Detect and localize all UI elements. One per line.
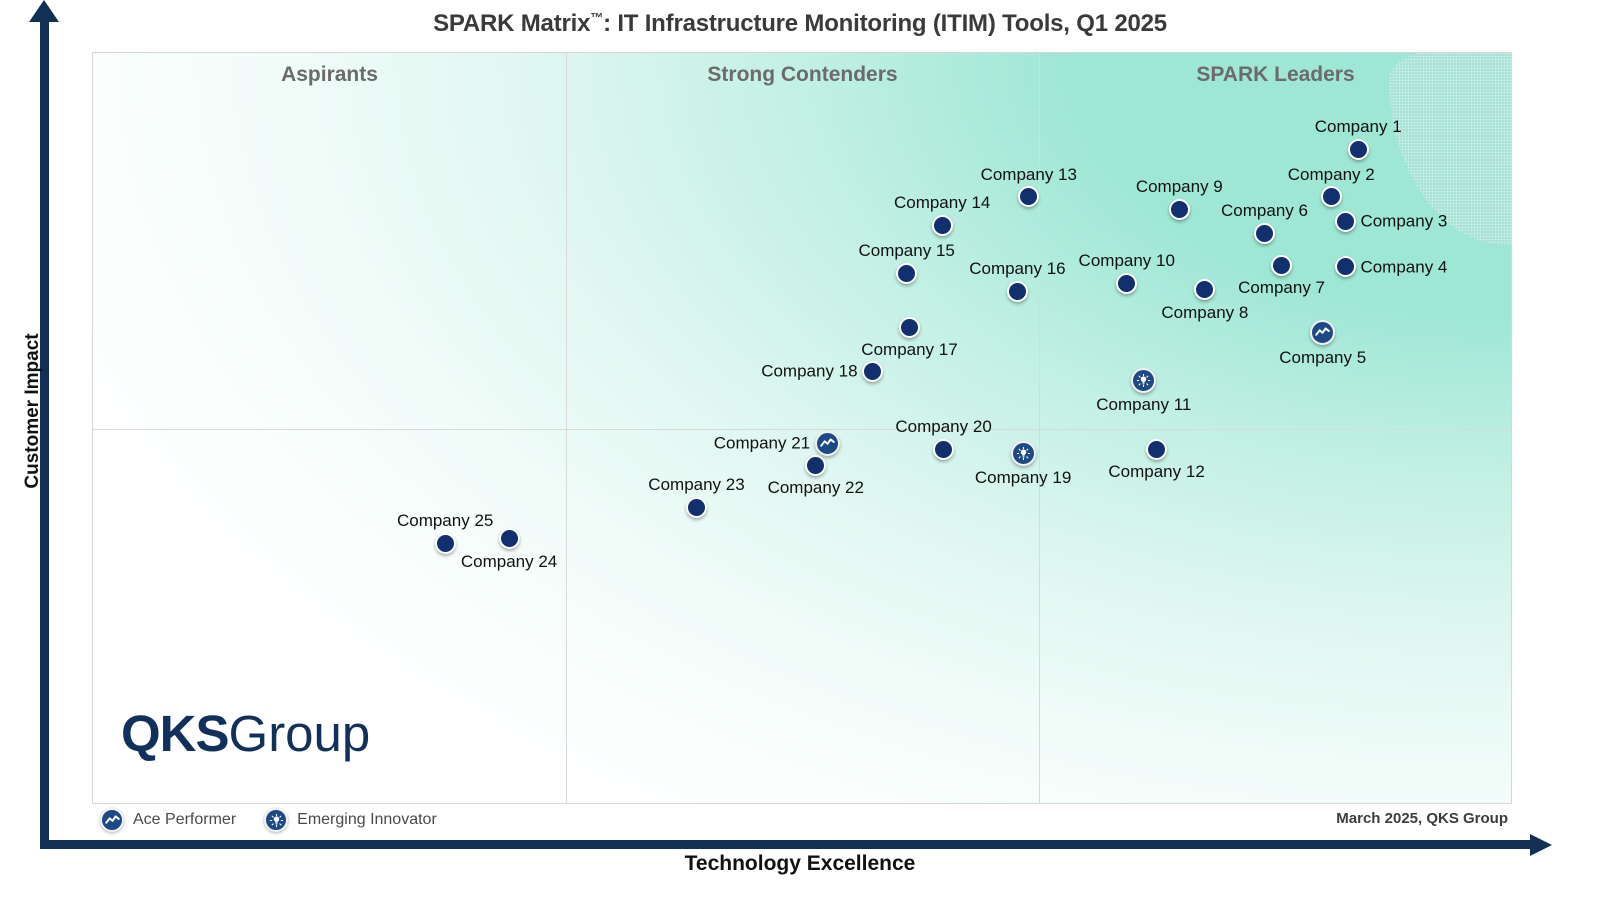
legend-label: Ace Performer bbox=[133, 811, 236, 829]
data-point-marker[interactable] bbox=[1271, 255, 1292, 276]
data-point-marker[interactable] bbox=[815, 431, 840, 456]
data-point-marker[interactable] bbox=[499, 528, 520, 549]
quadrant-label-spark-leaders: SPARK Leaders bbox=[1039, 63, 1512, 87]
data-point-label: Company 16 bbox=[969, 260, 1065, 277]
data-point-marker[interactable] bbox=[805, 455, 826, 476]
ace-performer-icon bbox=[100, 808, 124, 832]
data-point-marker[interactable] bbox=[862, 361, 883, 382]
data-point-marker[interactable] bbox=[1310, 320, 1335, 345]
emerging-innovator-icon bbox=[1016, 446, 1031, 461]
legend: Ace PerformerEmerging Innovator bbox=[100, 808, 437, 832]
data-point-marker[interactable] bbox=[435, 533, 456, 554]
plot-area: Aspirants Strong Contenders SPARK Leader… bbox=[92, 52, 1512, 804]
data-point-label: Company 7 bbox=[1238, 279, 1325, 296]
data-point-label: Company 20 bbox=[895, 418, 991, 435]
data-point-marker[interactable] bbox=[1348, 139, 1369, 160]
logo-group-text: Group bbox=[229, 705, 371, 762]
data-point-label: Company 18 bbox=[761, 363, 857, 380]
trademark-symbol: ™ bbox=[590, 10, 603, 25]
x-axis-line bbox=[40, 840, 1538, 849]
quadrant-label-strong-contenders: Strong Contenders bbox=[566, 63, 1039, 87]
emerging-innovator-icon bbox=[1136, 373, 1151, 388]
data-point-label: Company 11 bbox=[1096, 396, 1191, 413]
data-point-marker[interactable] bbox=[1018, 186, 1039, 207]
page-title: SPARK Matrix™: IT Infrastructure Monitor… bbox=[0, 10, 1600, 38]
data-point-label: Company 12 bbox=[1108, 463, 1204, 480]
data-point-marker[interactable] bbox=[1335, 256, 1356, 277]
data-point-label: Company 25 bbox=[397, 512, 493, 529]
data-point-marker[interactable] bbox=[899, 317, 920, 338]
data-point-label: Company 13 bbox=[981, 166, 1077, 183]
data-point-label: Company 24 bbox=[461, 553, 557, 570]
legend-label: Emerging Innovator bbox=[297, 811, 437, 829]
data-point-marker[interactable] bbox=[896, 263, 917, 284]
data-point-marker[interactable] bbox=[686, 497, 707, 518]
source-note: March 2025, QKS Group bbox=[1336, 810, 1508, 827]
data-point-label: Company 3 bbox=[1360, 213, 1447, 230]
data-point-marker[interactable] bbox=[1194, 279, 1215, 300]
ace-performer-icon bbox=[820, 436, 835, 451]
data-point-label: Company 8 bbox=[1161, 304, 1248, 321]
data-point-marker[interactable] bbox=[1321, 186, 1342, 207]
data-point-label: Company 19 bbox=[975, 469, 1071, 486]
data-point-marker[interactable] bbox=[1131, 368, 1156, 393]
data-point-label: Company 9 bbox=[1136, 178, 1223, 195]
x-axis-label: Technology Excellence bbox=[0, 852, 1600, 876]
data-point-marker[interactable] bbox=[1116, 273, 1137, 294]
data-point-marker[interactable] bbox=[1335, 211, 1356, 232]
title-main: SPARK Matrix bbox=[433, 10, 590, 37]
quadrant-divider-vertical-1 bbox=[566, 53, 567, 803]
data-point-label: Company 21 bbox=[714, 435, 810, 452]
data-point-label: Company 6 bbox=[1221, 202, 1308, 219]
title-rest: : IT Infrastructure Monitoring (ITIM) To… bbox=[603, 10, 1167, 37]
data-point-marker[interactable] bbox=[1007, 281, 1028, 302]
data-point-marker[interactable] bbox=[1254, 223, 1275, 244]
logo-qks-text: QKS bbox=[121, 705, 229, 762]
data-point-label: Company 10 bbox=[1079, 252, 1175, 269]
data-point-marker[interactable] bbox=[933, 439, 954, 460]
data-point-marker[interactable] bbox=[1146, 439, 1167, 460]
data-point-label: Company 17 bbox=[861, 341, 957, 358]
data-point-marker[interactable] bbox=[1169, 199, 1190, 220]
y-axis-label: Customer Impact bbox=[22, 281, 44, 541]
quadrant-divider-horizontal bbox=[93, 429, 1511, 430]
data-point-marker[interactable] bbox=[1011, 441, 1036, 466]
data-point-marker[interactable] bbox=[932, 215, 953, 236]
ace-performer-icon bbox=[1315, 325, 1330, 340]
quadrant-label-aspirants: Aspirants bbox=[93, 63, 566, 87]
qks-group-logo: QKSGroup bbox=[121, 708, 370, 759]
data-point-label: Company 15 bbox=[858, 242, 954, 259]
data-point-label: Company 23 bbox=[648, 476, 744, 493]
data-point-label: Company 4 bbox=[1360, 258, 1447, 275]
data-point-label: Company 2 bbox=[1288, 166, 1375, 183]
data-point-label: Company 5 bbox=[1279, 349, 1366, 366]
legend-item: Ace Performer bbox=[100, 808, 236, 832]
data-point-label: Company 14 bbox=[894, 194, 990, 211]
data-point-label: Company 22 bbox=[768, 479, 864, 496]
emerging-innovator-icon bbox=[264, 808, 288, 832]
data-point-label: Company 1 bbox=[1315, 118, 1402, 135]
legend-item: Emerging Innovator bbox=[264, 808, 437, 832]
